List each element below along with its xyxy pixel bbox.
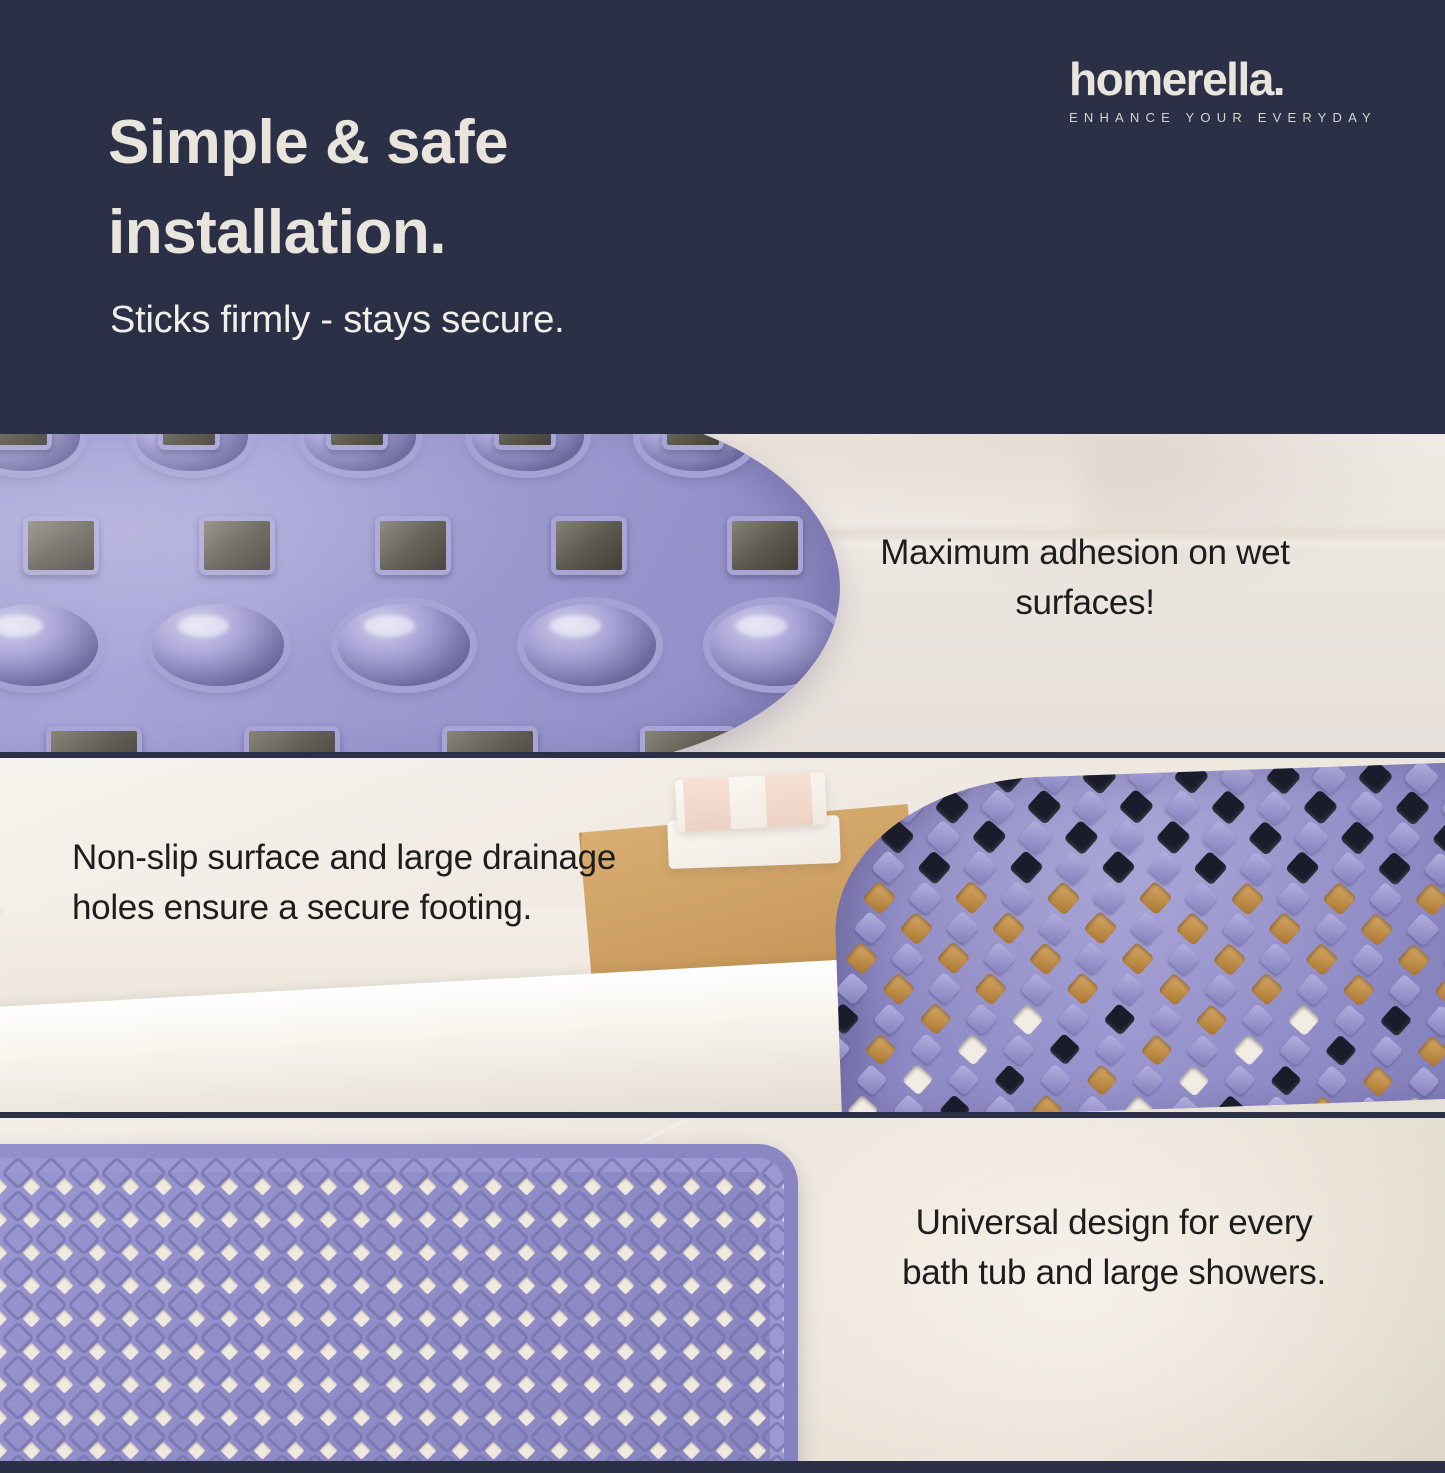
drainage-hole — [158, 434, 220, 450]
drainage-hole — [1285, 851, 1320, 886]
grip-bump — [856, 1063, 888, 1095]
grip-bump — [1224, 1064, 1256, 1096]
diamond-perforation — [121, 1276, 139, 1294]
diamond-perforation — [88, 1342, 106, 1360]
diamond-perforation — [55, 1276, 73, 1294]
diamond-perforation — [715, 1177, 733, 1195]
grip-bump — [1147, 850, 1182, 885]
grip-bump — [1129, 911, 1164, 946]
panel-caption-universal: Universal design for every bath tub and … — [879, 1198, 1349, 1297]
drainage-hole — [1357, 760, 1394, 796]
drainage-hole — [899, 911, 934, 946]
grip-bump — [1331, 851, 1366, 886]
diamond-perforation — [220, 1375, 238, 1393]
diamond-perforation — [154, 1375, 172, 1393]
grip-bump — [1187, 1034, 1220, 1067]
diamond-perforation — [550, 1276, 568, 1294]
diamond-perforation — [352, 1243, 370, 1261]
diamond-perforation — [121, 1243, 139, 1261]
diamond-perforation — [154, 1243, 172, 1261]
drainage-hole — [640, 726, 736, 752]
grip-bump — [1055, 850, 1090, 885]
diamond-perforation — [319, 1276, 337, 1294]
panel-divider — [0, 1112, 1445, 1118]
drainage-hole — [1138, 881, 1173, 916]
diamond-perforation — [286, 1342, 304, 1360]
grip-bump — [963, 850, 998, 885]
diamond-relief — [764, 1160, 784, 1185]
diamond-perforation — [253, 1342, 271, 1360]
diamond-perforation — [748, 1441, 766, 1459]
diamond-perforation — [649, 1177, 667, 1195]
suction-cup — [710, 604, 840, 686]
drainage-hole — [1434, 974, 1445, 1008]
drainage-hole — [1155, 819, 1191, 855]
product-feature-infographic: Simple & safe installation. Sticks firml… — [0, 0, 1445, 1473]
grip-bump — [1077, 1094, 1109, 1112]
diamond-perforation — [649, 1276, 667, 1294]
diamond-perforation — [253, 1309, 271, 1327]
diamond-perforation — [484, 1408, 502, 1426]
diamond-perforation — [55, 1210, 73, 1228]
diamond-perforation — [550, 1243, 568, 1261]
drainage-hole — [442, 726, 538, 752]
grip-bump — [1149, 1003, 1182, 1036]
diamond-perforation — [319, 1309, 337, 1327]
diamond-perforation — [352, 1309, 370, 1327]
drainage-hole — [1066, 972, 1100, 1006]
diamond-perforation — [0, 1177, 8, 1195]
soap-bar-top — [675, 772, 828, 832]
diamond-perforation — [748, 1243, 766, 1261]
diamond-perforation — [0, 1441, 8, 1459]
diamond-perforation — [682, 1177, 700, 1195]
drainage-hole — [1325, 1034, 1358, 1067]
diamond-perforation — [484, 1276, 502, 1294]
diamond-perforation — [286, 1408, 304, 1426]
diamond-perforation — [319, 1177, 337, 1195]
drainage-hole — [956, 1033, 989, 1066]
diamond-perforation — [451, 1342, 469, 1360]
bath-mat-draped-image — [830, 760, 1445, 1112]
diamond-perforation — [715, 1243, 733, 1261]
drainage-hole — [199, 516, 275, 575]
drainage-hole — [727, 516, 803, 575]
diamond-perforation — [583, 1342, 601, 1360]
diamond-relief — [764, 1358, 784, 1383]
diamond-perforation — [583, 1408, 601, 1426]
diamond-perforation — [682, 1441, 700, 1459]
diamond-perforation — [583, 1243, 601, 1261]
diamond-perforation — [88, 1276, 106, 1294]
diamond-perforation — [187, 1276, 205, 1294]
panel-caption-non-slip: Non-slip surface and large drainage hole… — [72, 833, 672, 932]
drainage-hole — [1302, 789, 1338, 825]
drainage-hole — [1086, 1064, 1118, 1096]
brand-tagline: ENHANCE YOUR EVERYDAY — [1069, 110, 1369, 125]
diamond-perforation — [121, 1177, 139, 1195]
suction-cup — [808, 434, 840, 471]
diamond-perforation — [187, 1375, 205, 1393]
grip-bump — [1037, 911, 1072, 946]
drainage-hole — [1397, 943, 1431, 977]
diamond-perforation — [220, 1210, 238, 1228]
drainage-hole — [917, 850, 952, 885]
diamond-perforation — [748, 1210, 766, 1228]
drainage-hole — [662, 434, 724, 450]
page-title: Simple & safe installation. — [108, 98, 828, 278]
diamond-perforation — [286, 1276, 304, 1294]
drainage-hole — [1118, 789, 1154, 825]
drainage-hole — [1362, 1065, 1394, 1097]
drainage-hole — [1213, 942, 1247, 976]
drainage-hole — [934, 788, 970, 824]
grip-bump — [1057, 1003, 1090, 1036]
diamond-perforation — [484, 1210, 502, 1228]
diamond-perforation — [451, 1243, 469, 1261]
brand-name: homerella. — [1069, 56, 1369, 102]
diamond-perforation — [418, 1441, 436, 1459]
diamond-perforation — [682, 1210, 700, 1228]
drainage-hole — [919, 1002, 952, 1035]
diamond-perforation — [253, 1375, 271, 1393]
diamond-perforation — [715, 1408, 733, 1426]
diamond-perforation — [418, 1210, 436, 1228]
diamond-perforation — [55, 1309, 73, 1327]
drainage-hole — [1322, 881, 1357, 916]
diamond-perforation — [88, 1177, 106, 1195]
grip-bump — [1256, 789, 1292, 825]
drainage-hole — [1379, 1004, 1412, 1037]
diamond-perforation — [682, 1276, 700, 1294]
diamond-perforation — [352, 1408, 370, 1426]
diamond-perforation — [88, 1210, 106, 1228]
grip-bump — [1406, 912, 1441, 947]
diamond-perforation — [649, 1309, 667, 1327]
drainage-hole — [1417, 1035, 1445, 1068]
drainage-hole — [1342, 973, 1376, 1007]
soap-wrapper-band — [765, 773, 814, 827]
diamond-perforation — [385, 1441, 403, 1459]
diamond-perforation — [715, 1375, 733, 1393]
diamond-perforation — [121, 1309, 139, 1327]
suction-cup — [304, 434, 416, 471]
suction-cup — [152, 604, 284, 686]
diamond-perforation — [0, 1243, 8, 1261]
drainage-hole — [1028, 941, 1062, 975]
diamond-perforation — [451, 1276, 469, 1294]
diamond-perforation — [583, 1276, 601, 1294]
diamond-perforation — [352, 1177, 370, 1195]
diamond-perforation — [550, 1210, 568, 1228]
diamond-perforation — [88, 1441, 106, 1459]
diamond-perforation — [748, 1309, 766, 1327]
diamond-perforation — [682, 1342, 700, 1360]
diamond-perforation — [385, 1276, 403, 1294]
diamond-perforation — [616, 1342, 634, 1360]
diamond-perforation — [55, 1243, 73, 1261]
grip-bump — [945, 911, 980, 946]
diamond-perforation — [616, 1243, 634, 1261]
diamond-perforation — [418, 1243, 436, 1261]
diamond-relief — [764, 1259, 784, 1284]
grip-bump — [1294, 820, 1330, 856]
drainage-hole — [1305, 942, 1339, 976]
drainage-hole — [902, 1063, 934, 1095]
drainage-hole — [939, 1094, 971, 1112]
diamond-perforation — [715, 1210, 733, 1228]
diamond-perforation — [0, 1210, 8, 1228]
diamond-perforation — [187, 1309, 205, 1327]
grip-bump — [1348, 790, 1384, 826]
drainage-hole — [1377, 851, 1412, 886]
drainage-hole — [1046, 880, 1081, 915]
drainage-hole — [1121, 942, 1155, 976]
diamond-perforation — [484, 1177, 502, 1195]
diamond-perforation — [220, 1243, 238, 1261]
grip-bump — [1000, 880, 1035, 915]
diamond-relief — [764, 1193, 784, 1218]
diamond-perforation — [319, 1210, 337, 1228]
diamond-perforation — [88, 1309, 106, 1327]
grip-bump — [888, 789, 924, 825]
drainage-hole — [1011, 1003, 1044, 1036]
diamond-perforation — [0, 1408, 8, 1426]
drainage-hole — [244, 726, 340, 752]
diamond-perforation — [88, 1375, 106, 1393]
grip-bump — [1259, 942, 1293, 976]
drainage-hole — [1048, 1033, 1081, 1066]
diamond-perforation — [187, 1342, 205, 1360]
diamond-perforation — [55, 1375, 73, 1393]
diamond-perforation — [550, 1408, 568, 1426]
drainage-hole — [994, 1064, 1026, 1096]
diamond-perforation — [22, 1441, 40, 1459]
diamond-perforation — [550, 1375, 568, 1393]
diamond-perforation — [517, 1441, 535, 1459]
diamond-perforation — [385, 1177, 403, 1195]
diamond-perforation — [517, 1375, 535, 1393]
diamond-perforation — [121, 1342, 139, 1360]
diamond-relief — [764, 1226, 784, 1251]
diamond-perforation — [616, 1408, 634, 1426]
diamond-perforation — [220, 1276, 238, 1294]
diamond-perforation — [649, 1441, 667, 1459]
grip-bump — [1313, 912, 1348, 947]
grip-bump — [1316, 1065, 1348, 1097]
diamond-perforation — [253, 1177, 271, 1195]
diamond-perforation — [187, 1408, 205, 1426]
brand-logo: homerella. ENHANCE YOUR EVERYDAY — [1069, 56, 1369, 125]
grip-bump — [982, 941, 1016, 975]
grip-bump — [1241, 1003, 1274, 1036]
diamond-perforation — [649, 1243, 667, 1261]
drainage-hole — [844, 941, 878, 975]
grip-bump — [1204, 973, 1238, 1007]
diamond-perforation — [22, 1177, 40, 1195]
grip-bump — [1388, 973, 1422, 1007]
suction-cup — [640, 434, 752, 471]
diamond-perforation — [550, 1309, 568, 1327]
diamond-perforation — [121, 1408, 139, 1426]
grip-bump — [1109, 819, 1145, 855]
drainage-hole — [1267, 912, 1302, 947]
diamond-perforation — [253, 1408, 271, 1426]
suction-cup — [0, 434, 80, 471]
diamond-perforation — [319, 1375, 337, 1393]
suction-cup — [136, 434, 248, 471]
diamond-perforation — [418, 1276, 436, 1294]
diamond-perforation — [748, 1177, 766, 1195]
diamond-perforation — [484, 1441, 502, 1459]
diamond-perforation — [22, 1210, 40, 1228]
diamond-perforation — [22, 1276, 40, 1294]
diamond-perforation — [22, 1375, 40, 1393]
diamond-perforation — [418, 1342, 436, 1360]
soap-wrapper-band — [683, 777, 732, 831]
diamond-perforation — [517, 1177, 535, 1195]
drainage-hole — [1210, 789, 1246, 825]
diamond-perforation — [220, 1309, 238, 1327]
grip-bump — [1276, 881, 1311, 916]
diamond-perforation — [451, 1408, 469, 1426]
diamond-perforation — [550, 1441, 568, 1459]
diamond-perforation — [88, 1408, 106, 1426]
grip-bump — [893, 1094, 925, 1112]
diamond-perforation — [385, 1309, 403, 1327]
diamond-perforation — [748, 1375, 766, 1393]
diamond-perforation — [88, 1243, 106, 1261]
diamond-perforation — [451, 1210, 469, 1228]
diamond-perforation — [418, 1177, 436, 1195]
drainage-hole — [1230, 881, 1265, 916]
diamond-perforation — [253, 1210, 271, 1228]
drainage-hole — [838, 726, 840, 752]
grip-bump — [890, 941, 924, 975]
diamond-perforation — [121, 1441, 139, 1459]
diamond-perforation — [22, 1243, 40, 1261]
panel-divider — [0, 752, 1445, 758]
bath-mat-flat-image — [0, 1144, 798, 1473]
drainage-hole — [1414, 882, 1445, 917]
diamond-perforation — [418, 1375, 436, 1393]
diamond-perforation — [121, 1210, 139, 1228]
diamond-perforation — [55, 1177, 73, 1195]
grip-bump — [1017, 819, 1053, 855]
drainage-hole — [23, 516, 99, 575]
page-subtitle: Sticks firmly - stays secure. — [110, 296, 910, 345]
drainage-hole — [847, 1094, 879, 1112]
mat-pattern-area — [0, 1158, 784, 1473]
diamond-perforation — [253, 1441, 271, 1459]
grip-bump — [928, 972, 962, 1006]
diamond-perforation — [616, 1441, 634, 1459]
diamond-perforation — [517, 1276, 535, 1294]
diamond-perforation — [385, 1243, 403, 1261]
drainage-hole — [1103, 1003, 1136, 1036]
diamond-perforation — [517, 1408, 535, 1426]
drainage-hole — [1009, 850, 1044, 885]
drainage-hole — [1394, 790, 1430, 826]
diamond-perforation — [319, 1408, 337, 1426]
diamond-perforation — [352, 1276, 370, 1294]
grip-bump — [873, 1002, 906, 1035]
drainage-hole — [1140, 1034, 1173, 1067]
diamond-perforation — [451, 1177, 469, 1195]
diamond-perforation — [319, 1243, 337, 1261]
suction-cup — [0, 604, 98, 686]
drainage-hole — [882, 972, 916, 1006]
diamond-perforation — [583, 1309, 601, 1327]
drainage-hole — [1195, 1003, 1228, 1036]
grip-bump — [1371, 1035, 1404, 1068]
diamond-perforation — [682, 1243, 700, 1261]
diamond-perforation — [748, 1276, 766, 1294]
suction-cup — [338, 604, 470, 686]
diamond-perforation — [0, 1276, 8, 1294]
diamond-perforation — [649, 1408, 667, 1426]
diamond-perforation — [0, 1309, 8, 1327]
drainage-hole — [1233, 1034, 1266, 1067]
diamond-perforation — [187, 1210, 205, 1228]
drainage-hole — [1359, 912, 1394, 947]
drainage-hole — [1178, 1064, 1210, 1096]
diamond-perforation — [748, 1408, 766, 1426]
grip-bump — [1423, 851, 1445, 886]
grip-bump — [965, 1002, 998, 1035]
diamond-perforation — [583, 1441, 601, 1459]
drainage-hole — [1158, 972, 1192, 1006]
diamond-perforation — [154, 1309, 172, 1327]
diamond-perforation — [385, 1408, 403, 1426]
drainage-hole — [326, 434, 388, 450]
diamond-perforation — [649, 1210, 667, 1228]
diamond-perforation — [55, 1408, 73, 1426]
grip-bump — [1239, 850, 1274, 885]
grip-bump — [1184, 881, 1219, 916]
diamond-perforation — [220, 1177, 238, 1195]
diamond-perforation — [583, 1177, 601, 1195]
drainage-hole — [954, 880, 989, 915]
grip-bump — [908, 880, 943, 915]
diamond-relief — [764, 1391, 784, 1416]
grip-bump — [853, 911, 888, 946]
diamond-perforation — [319, 1441, 337, 1459]
diamond-perforation — [55, 1342, 73, 1360]
grip-bump — [1164, 789, 1200, 825]
grip-bump — [1132, 1064, 1164, 1096]
diamond-perforation — [352, 1342, 370, 1360]
grip-bump — [985, 1094, 1017, 1112]
grip-bump — [1075, 941, 1109, 975]
drainage-hole — [1175, 911, 1210, 946]
drainage-hole — [46, 726, 142, 752]
diamond-perforation — [0, 1375, 8, 1393]
grip-bump — [1221, 911, 1256, 946]
diamond-perforation — [253, 1276, 271, 1294]
grip-bump — [836, 972, 870, 1006]
drainage-hole — [879, 819, 915, 855]
diamond-perforation — [286, 1210, 304, 1228]
diamond-perforation — [22, 1309, 40, 1327]
drainage-hole — [1340, 820, 1376, 856]
grip-bump — [1092, 880, 1127, 915]
diamond-perforation — [451, 1309, 469, 1327]
drainage-hole — [1063, 819, 1099, 855]
diamond-perforation — [220, 1408, 238, 1426]
diamond-perforation — [484, 1243, 502, 1261]
diamond-perforation — [451, 1441, 469, 1459]
